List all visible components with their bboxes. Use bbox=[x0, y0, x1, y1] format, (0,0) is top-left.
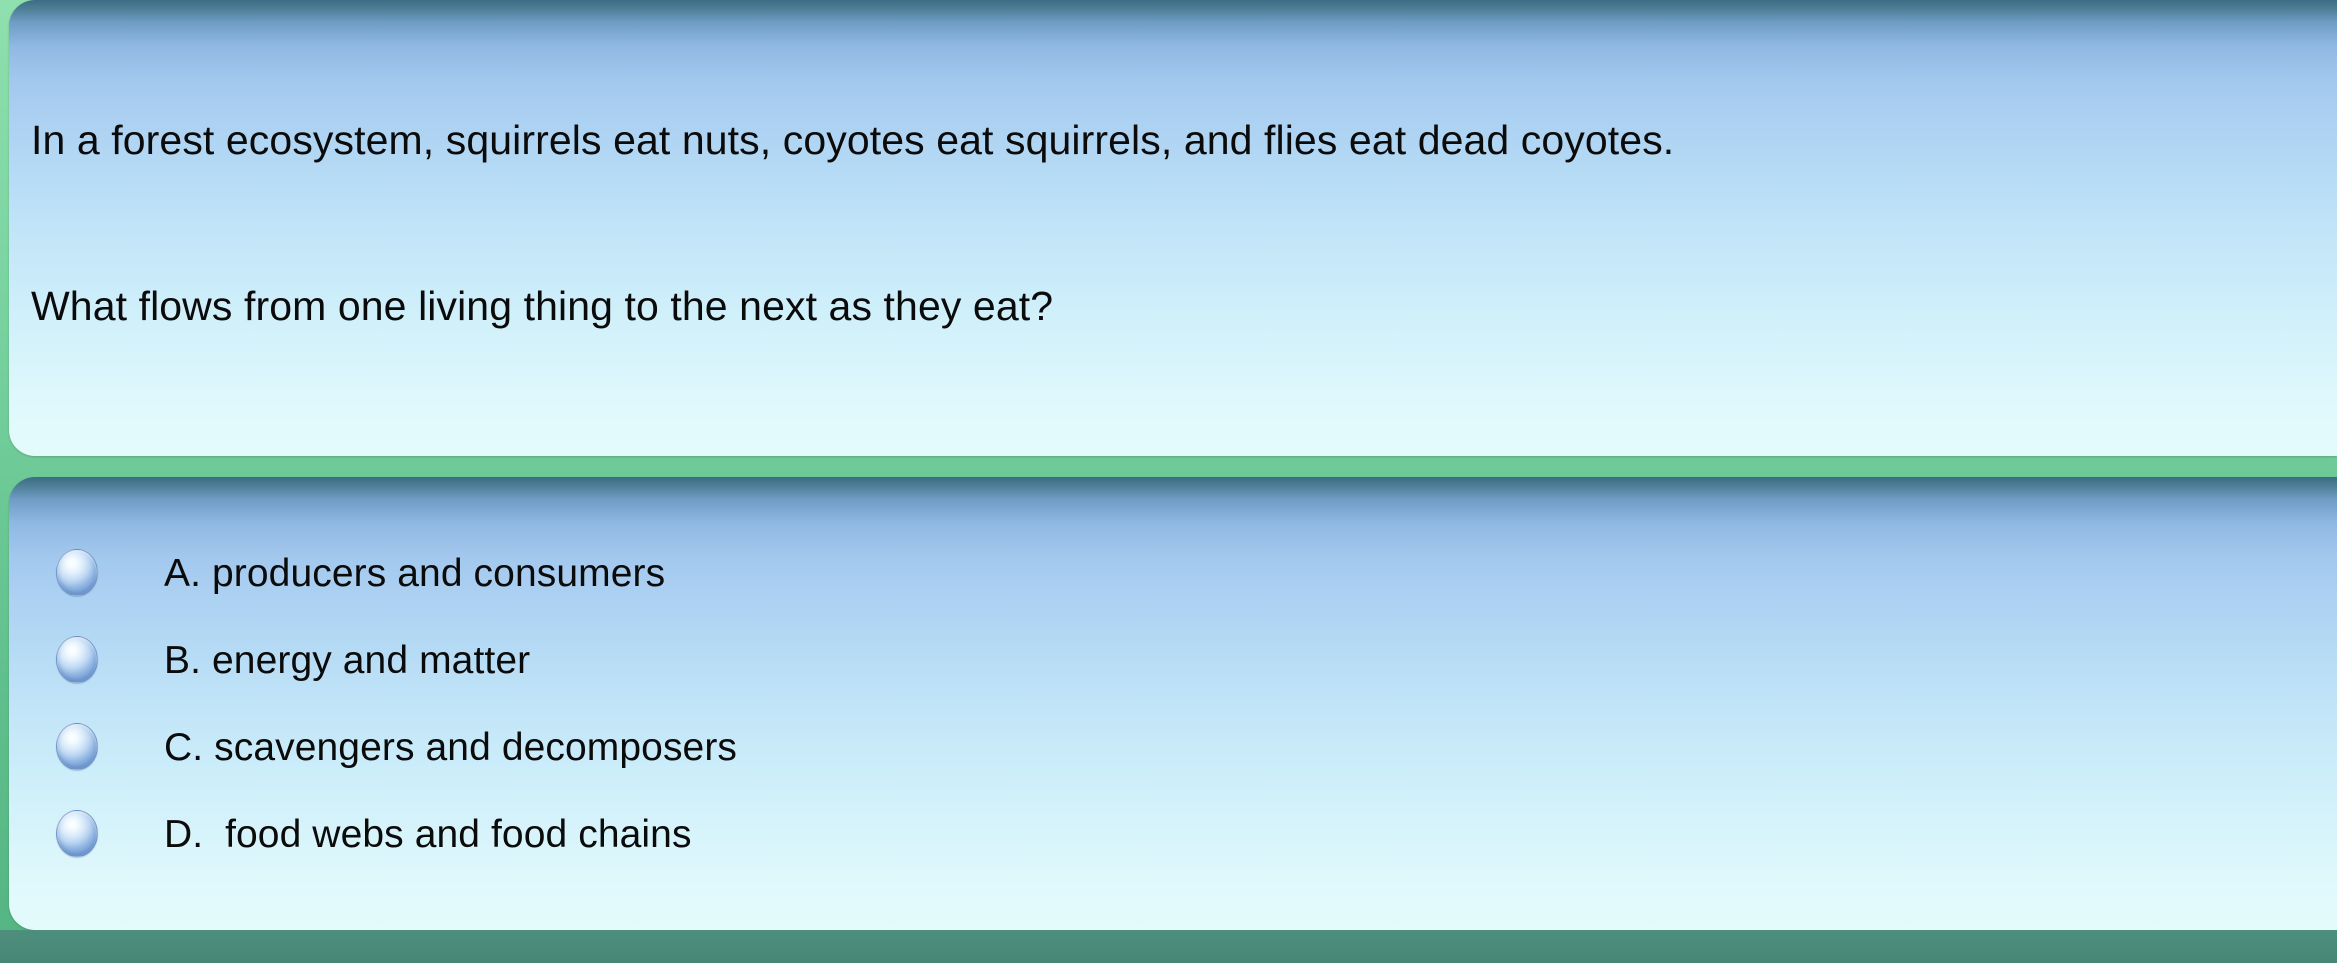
question-panel: In a forest ecosystem, squirrels eat nut… bbox=[9, 0, 2337, 456]
question-stem: In a forest ecosystem, squirrels eat nut… bbox=[31, 117, 1674, 164]
quiz-screen: In a forest ecosystem, squirrels eat nut… bbox=[0, 0, 2337, 963]
answer-choice-label-a: A. producers and consumers bbox=[164, 543, 665, 605]
bottom-backdrop-strip bbox=[0, 930, 2337, 963]
question-prompt: What flows from one living thing to the … bbox=[31, 283, 1053, 330]
answer-choice-a[interactable]: A. producers and consumers bbox=[9, 543, 2337, 615]
answer-choices-panel: A. producers and consumers B. energy and… bbox=[9, 477, 2337, 930]
answer-choice-c[interactable]: C. scavengers and decomposers bbox=[9, 717, 2337, 789]
radio-button-icon-d[interactable] bbox=[56, 810, 98, 857]
radio-button-icon-a[interactable] bbox=[56, 549, 98, 596]
answer-choice-label-b: B. energy and matter bbox=[164, 630, 530, 692]
answer-choice-d[interactable]: D. food webs and food chains bbox=[9, 804, 2337, 876]
answer-choice-label-c: C. scavengers and decomposers bbox=[164, 717, 737, 779]
radio-button-icon-c[interactable] bbox=[56, 723, 98, 770]
answer-choice-b[interactable]: B. energy and matter bbox=[9, 630, 2337, 702]
answer-choice-label-d: D. food webs and food chains bbox=[164, 804, 692, 866]
radio-button-icon-b[interactable] bbox=[56, 636, 98, 683]
